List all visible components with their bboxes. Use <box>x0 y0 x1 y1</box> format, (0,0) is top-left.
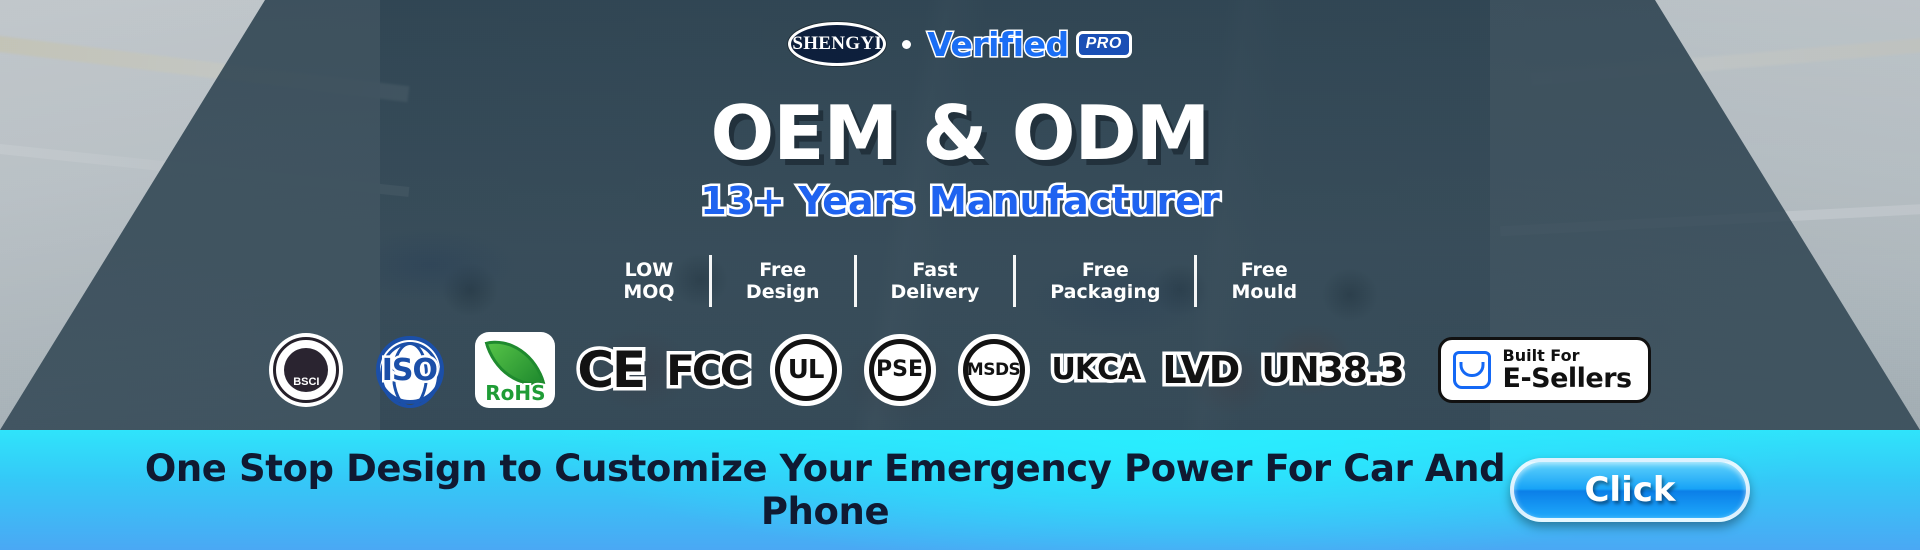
feature-low-moq: LOW MOQ <box>589 259 709 304</box>
pse-label: PSE <box>876 360 923 381</box>
msds-certification-icon: MSDS <box>958 334 1030 406</box>
feature-line2: Delivery <box>891 281 980 303</box>
bsci-certification-icon: BSCI <box>269 333 343 407</box>
main-headline: OEM & ODM <box>0 96 1920 171</box>
feature-line2: Packaging <box>1050 281 1160 303</box>
brand-logo-row: SHENGYI Verified PRO <box>0 22 1920 66</box>
lvd-certification-icon: LVD <box>1162 348 1239 392</box>
iso-certification-icon: ISO <box>365 333 453 407</box>
verified-pro-logo: Verified PRO <box>927 25 1132 64</box>
iso-label: ISO <box>382 353 437 388</box>
shopping-bag-icon <box>1453 351 1491 389</box>
feature-fast-delivery: Fast Delivery <box>857 259 1014 304</box>
ul-label: UL <box>788 358 824 383</box>
feature-free-mould: Free Mould <box>1197 259 1331 304</box>
shengyi-logo-text: SHENGYI <box>792 33 882 55</box>
sub-headline-years: 13+ Years <box>700 179 915 223</box>
built-for-esellers-badge: Built For E-Sellers <box>1438 337 1651 404</box>
logo-separator-dot <box>902 40 911 49</box>
click-cta-button[interactable]: Click <box>1510 458 1750 522</box>
feature-divider <box>1194 255 1197 307</box>
feature-line2: Mould <box>1231 281 1297 303</box>
feature-divider <box>1013 255 1016 307</box>
pro-badge: PRO <box>1076 31 1132 58</box>
bottom-cta-bar: One Stop Design to Customize Your Emerge… <box>0 430 1920 550</box>
feature-free-packaging: Free Packaging <box>1016 259 1194 304</box>
esellers-text-block: Built For E-Sellers <box>1503 348 1632 393</box>
pse-certification-icon: PSE <box>864 334 936 406</box>
headline-block: OEM & ODM 13+ YearsManufacturer <box>0 96 1920 223</box>
feature-line1: LOW <box>623 259 675 281</box>
ukca-certification-icon: UK CA <box>1052 357 1141 383</box>
feature-line1: Free <box>746 259 820 281</box>
bsci-ring <box>273 337 339 403</box>
rohs-certification-icon: RoHS <box>475 332 555 408</box>
sub-headline: 13+ YearsManufacturer <box>0 181 1920 223</box>
rohs-label: RoHS <box>485 381 545 405</box>
feature-divider <box>854 255 857 307</box>
verified-label: Verified <box>927 25 1068 64</box>
certification-row: BSCI ISO RoHS CE FCC UL PSE MSDS UK CA <box>0 332 1920 408</box>
ul-certification-icon: UL <box>770 334 842 406</box>
feature-strip: LOW MOQ Free Design Fast Delivery Free P… <box>0 255 1920 307</box>
ukca-label-line1: UK <box>1052 357 1098 383</box>
msds-label: MSDS <box>967 362 1021 378</box>
feature-line2: MOQ <box>623 281 675 303</box>
un383-certification-icon: UN38.3 <box>1261 350 1403 391</box>
feature-free-design: Free Design <box>712 259 854 304</box>
bottom-tagline: One Stop Design to Customize Your Emerge… <box>0 447 1510 533</box>
promo-banner: SHENGYI Verified PRO OEM & ODM 13+ Years… <box>0 0 1920 550</box>
click-cta-label: Click <box>1584 470 1675 510</box>
feature-line1: Free <box>1231 259 1297 281</box>
feature-line1: Fast <box>891 259 980 281</box>
feature-line1: Free <box>1050 259 1160 281</box>
fcc-certification-icon: FCC <box>666 346 747 395</box>
ukca-label-line2: CA <box>1097 357 1140 383</box>
sub-headline-role: Manufacturer <box>929 179 1220 223</box>
esellers-small-label: Built For <box>1503 346 1580 365</box>
feature-divider <box>709 255 712 307</box>
esellers-big-label: E-Sellers <box>1503 363 1632 394</box>
ce-certification-icon: CE <box>577 341 644 399</box>
shengyi-logo: SHENGYI <box>788 22 886 66</box>
feature-line2: Design <box>746 281 820 303</box>
